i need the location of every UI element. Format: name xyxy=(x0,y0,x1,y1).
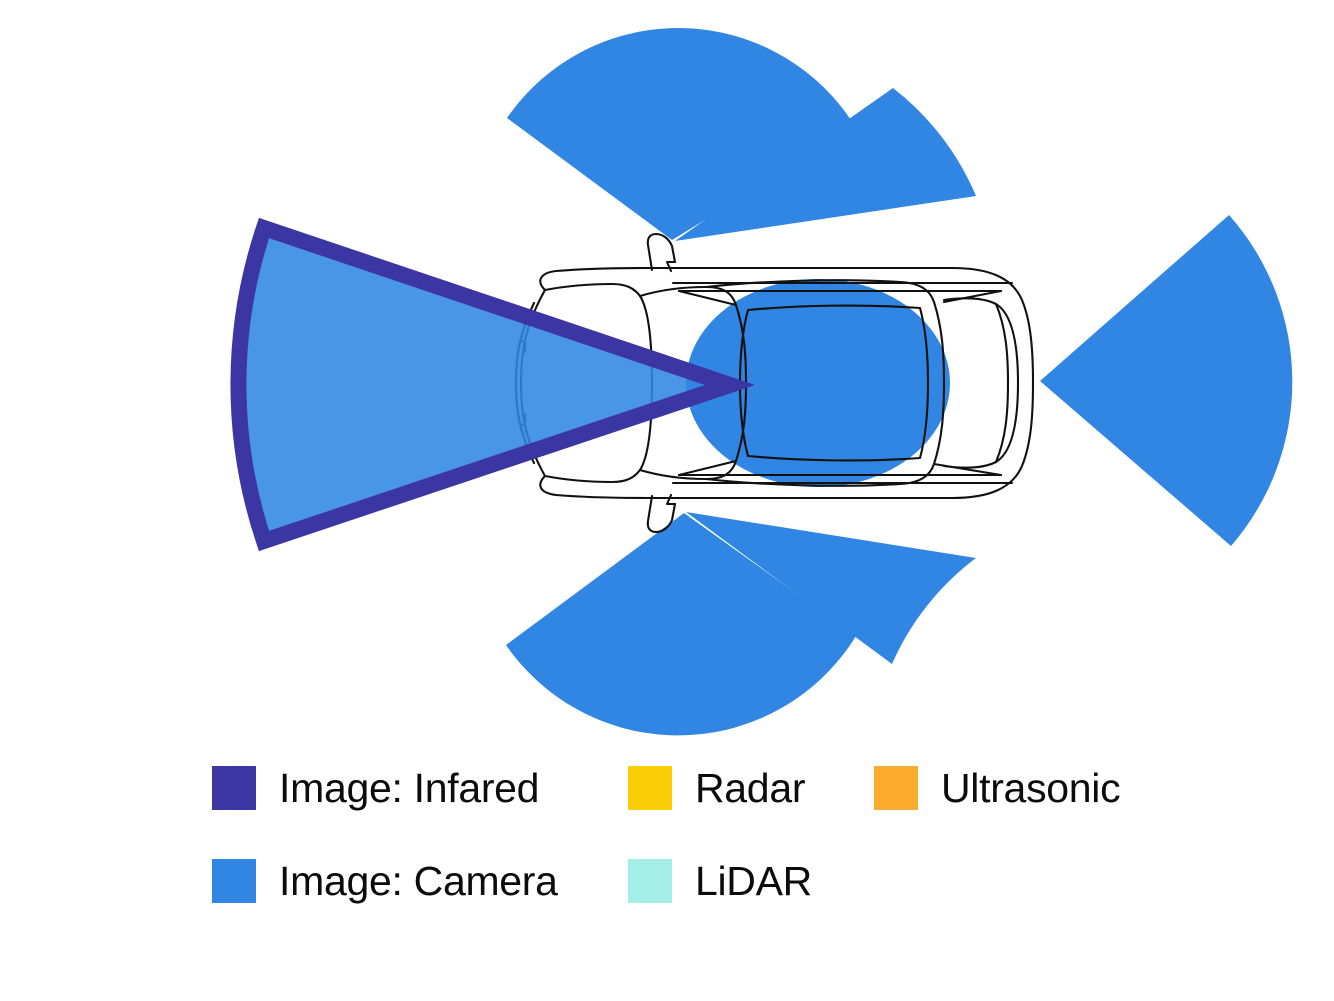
legend-label-ultrasonic: Ultrasonic xyxy=(941,766,1120,810)
legend-label-infared: Image: Infared xyxy=(279,766,539,810)
legend-row-2: Image: Camera LiDAR xyxy=(212,850,1192,912)
legend: Image: Infared Radar Ultrasonic Image: C… xyxy=(212,757,1192,917)
legend-item-camera[interactable]: Image: Camera xyxy=(212,859,558,903)
legend-label-radar: Radar xyxy=(695,766,805,810)
legend-item-infared[interactable]: Image: Infared xyxy=(212,766,539,810)
side-mirror-left xyxy=(648,234,675,271)
legend-swatch-camera xyxy=(212,859,256,903)
legend-swatch-infared xyxy=(212,766,256,810)
legend-label-camera: Image: Camera xyxy=(279,859,558,903)
legend-label-lidar: LiDAR xyxy=(695,859,812,903)
legend-swatch-ultrasonic xyxy=(874,766,918,810)
legend-item-ultrasonic[interactable]: Ultrasonic xyxy=(874,766,1120,810)
legend-swatch-radar xyxy=(628,766,672,810)
legend-item-radar[interactable]: Radar xyxy=(628,766,805,810)
sensor-coverage-diagram: Image: Infared Radar Ultrasonic Image: C… xyxy=(0,0,1334,1001)
legend-row-1: Image: Infared Radar Ultrasonic xyxy=(212,757,1192,819)
legend-swatch-lidar xyxy=(628,859,672,903)
legend-item-lidar[interactable]: LiDAR xyxy=(628,859,812,903)
rear-camera-cone xyxy=(1040,215,1292,546)
